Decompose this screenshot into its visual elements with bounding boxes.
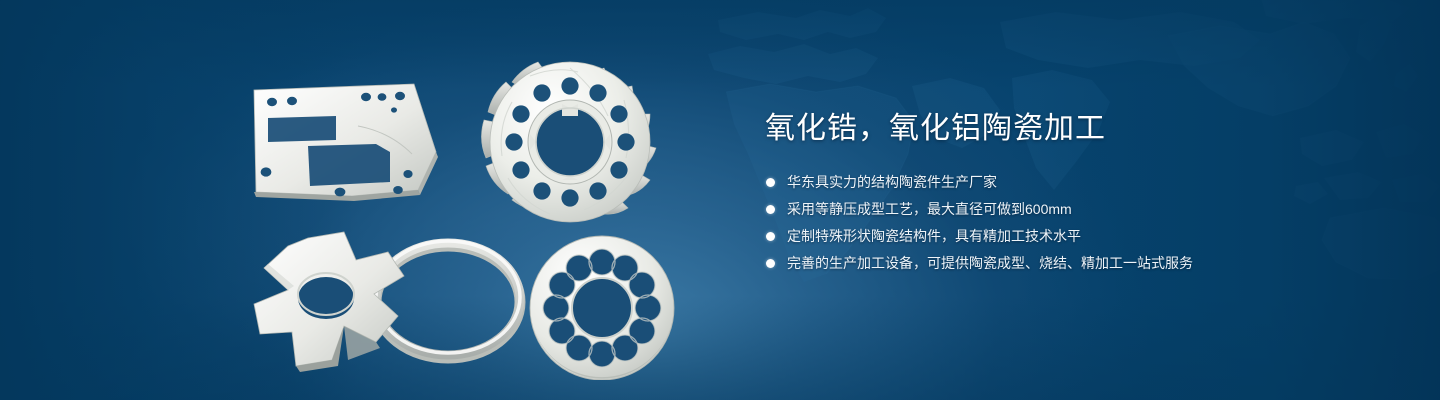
ceramic-machined-plate-shape (254, 84, 438, 201)
feature-list-item: 华东具实力的结构陶瓷件生产厂家 (765, 174, 1365, 191)
ceramic-products-image (230, 40, 710, 380)
hero-banner: 氧化锆，氧化铝陶瓷加工 华东具实力的结构陶瓷件生产厂家 采用等静压成型工艺，最大… (0, 0, 1440, 400)
feature-list-item: 采用等静压成型工艺，最大直径可做到600mm (765, 201, 1365, 218)
feature-list-item: 完善的生产加工设备，可提供陶瓷成型、烧结、精加工一站式服务 (765, 255, 1365, 272)
banner-copy-block: 氧化锆，氧化铝陶瓷加工 华东具实力的结构陶瓷件生产厂家 采用等静压成型工艺，最大… (765, 110, 1365, 272)
ceramic-impeller-shape (481, 62, 656, 222)
ceramic-perforated-disc-shape (530, 236, 674, 380)
bullet-dot-icon (766, 178, 775, 187)
feature-text: 华东具实力的结构陶瓷件生产厂家 (787, 174, 997, 190)
bullet-dot-icon (766, 259, 775, 268)
feature-text: 采用等静压成型工艺，最大直径可做到600mm (787, 201, 1072, 217)
banner-feature-list: 华东具实力的结构陶瓷件生产厂家 采用等静压成型工艺，最大直径可做到600mm 定… (765, 174, 1365, 272)
bullet-dot-icon (766, 232, 775, 241)
feature-list-item: 定制特殊形状陶瓷结构件，具有精加工技术水平 (765, 228, 1365, 245)
banner-headline: 氧化锆，氧化铝陶瓷加工 (765, 110, 1365, 148)
ceramic-cross-plate-shape (254, 232, 404, 372)
feature-text: 完善的生产加工设备，可提供陶瓷成型、烧结、精加工一站式服务 (787, 255, 1193, 271)
bullet-dot-icon (766, 205, 775, 214)
ceramic-ring-shape (376, 241, 520, 358)
feature-text: 定制特殊形状陶瓷结构件，具有精加工技术水平 (787, 228, 1081, 244)
